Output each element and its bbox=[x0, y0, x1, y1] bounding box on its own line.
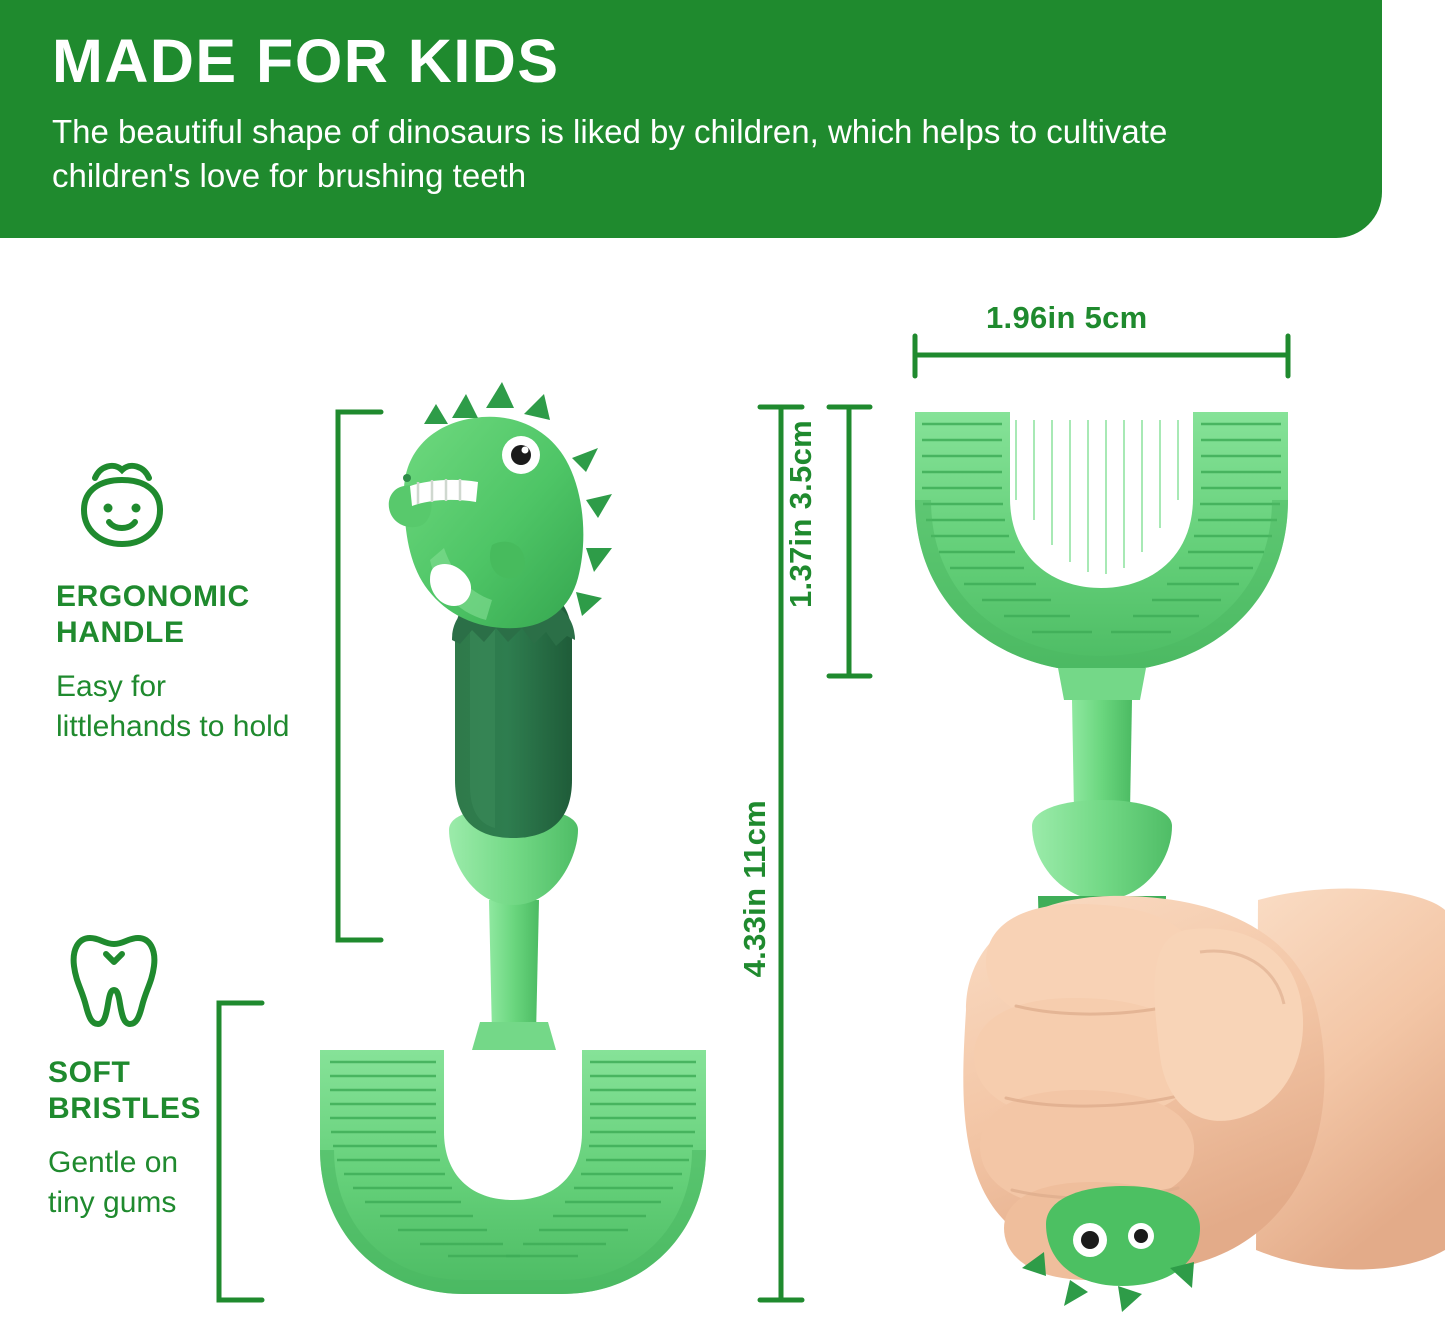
feature-description: Easy for littlehands to hold bbox=[56, 667, 360, 746]
child-hand bbox=[963, 889, 1445, 1280]
tooth-icon bbox=[54, 928, 174, 1033]
brush-head-center bbox=[320, 1022, 706, 1294]
dinosaur-tail-detail bbox=[1022, 1186, 1200, 1312]
measure-label-length: 4.33in 11cm bbox=[737, 800, 773, 977]
page-title: MADE FOR KIDS bbox=[52, 26, 1342, 96]
baby-face-icon bbox=[62, 452, 182, 557]
feature-ergonomic-handle: ERGONOMIC HANDLE Easy for littlehands to… bbox=[30, 452, 360, 746]
feature-description: Gentle on tiny gums bbox=[48, 1143, 352, 1222]
feature-title: ERGONOMIC HANDLE bbox=[56, 579, 360, 651]
dimension-head-depth bbox=[829, 407, 870, 676]
dimension-head-width bbox=[915, 336, 1288, 376]
feature-title: SOFT BRISTLES bbox=[48, 1055, 352, 1127]
measure-label-depth: 1.37in 3.5cm bbox=[783, 420, 819, 608]
measure-label-width: 1.96in 5cm bbox=[986, 300, 1148, 336]
header-subtitle: The beautiful shape of dinosaurs is like… bbox=[52, 110, 1312, 198]
feature-soft-bristles: SOFT BRISTLES Gentle on tiny gums bbox=[22, 928, 352, 1222]
brush-head-right bbox=[915, 412, 1288, 672]
product-center-toothbrush bbox=[320, 382, 706, 1294]
header-banner: MADE FOR KIDS The beautiful shape of din… bbox=[0, 0, 1382, 238]
product-right-hand-holding-brush bbox=[915, 412, 1445, 1312]
